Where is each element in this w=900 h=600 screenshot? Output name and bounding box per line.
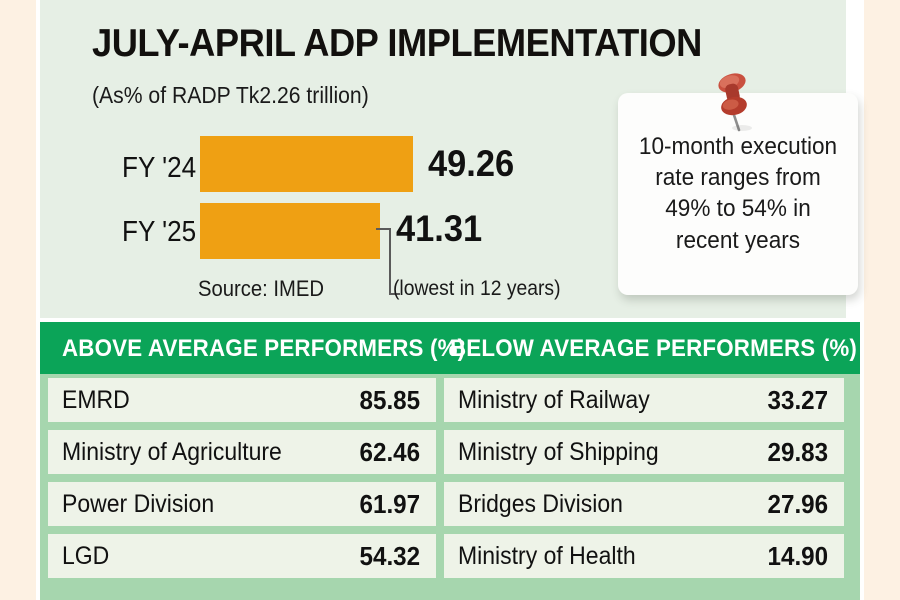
table-header-row: ABOVE AVERAGE PERFORMERS (%) BELOW AVERA… [40,322,860,374]
table-row: Bridges Division 27.96 [444,482,844,526]
chart-annotation: (lowest in 12 years) [393,277,561,301]
table-row: EMRD 85.85 [48,378,436,422]
sticky-note-text: 10-month execution rate ranges from 49% … [638,131,837,256]
source-label: Source: IMED [198,276,324,302]
chart-panel: JULY-APRIL ADP IMPLEMENTATION (As% of RA… [40,0,846,318]
bar-fy25 [200,203,380,259]
table-row: Ministry of Health 14.90 [444,534,844,578]
table-row: Ministry of Agriculture 62.46 [48,430,436,474]
bar-value-fy25: 41.31 [396,208,482,250]
row-value: 62.46 [359,437,420,468]
page-title: JULY-APRIL ADP IMPLEMENTATION [92,22,702,66]
row-label: Ministry of Health [458,542,739,571]
page-subtitle: (As% of RADP Tk2.26 trillion) [92,82,369,109]
pushpin-icon [702,68,766,136]
row-label: Ministry of Agriculture [62,438,331,467]
bar-fy24 [200,136,413,192]
row-value: 29.83 [767,437,828,468]
table-row: Power Division 61.97 [48,482,436,526]
bar-label-fy24: FY '24 [122,152,196,185]
row-label: Bridges Division [458,490,739,519]
bar-label-fy25: FY '25 [122,216,196,249]
row-label: LGD [62,542,331,571]
row-label: Ministry of Railway [458,386,739,415]
row-value: 61.97 [359,489,420,520]
table-row: Ministry of Railway 33.27 [444,378,844,422]
row-value: 85.85 [359,385,420,416]
row-label: Ministry of Shipping [458,438,739,467]
table-body: EMRD 85.85 Ministry of Agriculture 62.46… [40,374,860,600]
row-label: Power Division [62,490,331,519]
table-row: Ministry of Shipping 29.83 [444,430,844,474]
row-value: 14.90 [767,541,828,572]
table-header-below-average: BELOW AVERAGE PERFORMERS (%) [450,335,857,363]
infographic-canvas: JULY-APRIL ADP IMPLEMENTATION (As% of RA… [0,0,900,600]
table-row: LGD 54.32 [48,534,436,578]
bar-value-fy24: 49.26 [428,143,514,185]
row-value: 54.32 [359,541,420,572]
row-value: 33.27 [767,385,828,416]
table-header-above-average: ABOVE AVERAGE PERFORMERS (%) [62,335,465,363]
row-value: 27.96 [767,489,828,520]
row-label: EMRD [62,386,331,415]
performers-table: ABOVE AVERAGE PERFORMERS (%) BELOW AVERA… [40,322,860,600]
